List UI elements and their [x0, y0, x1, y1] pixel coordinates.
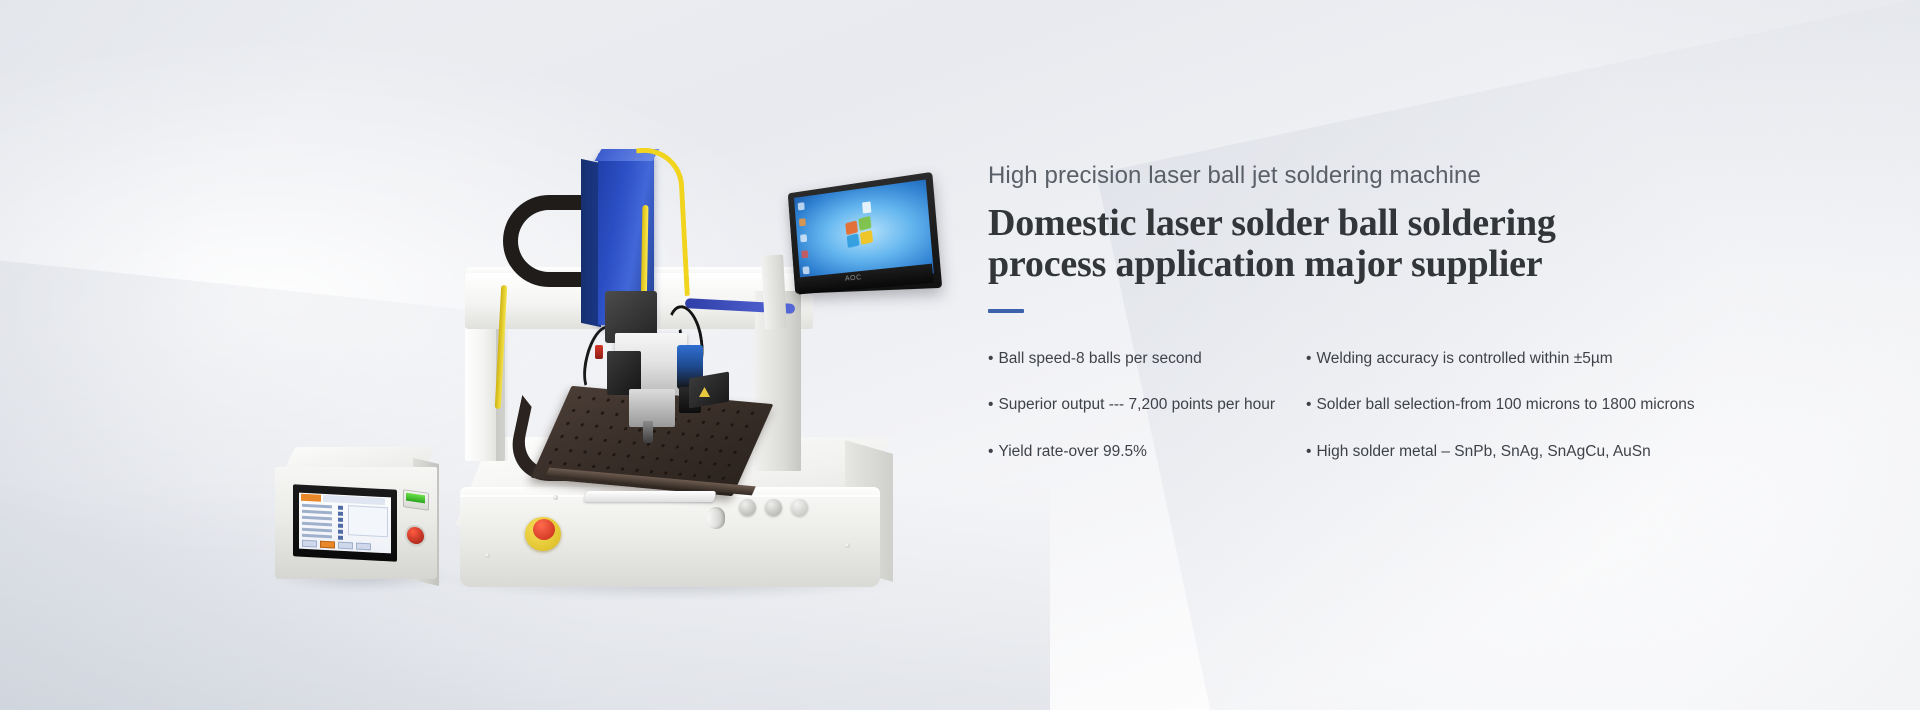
spec-text: Solder ball selection-from 100 microns t… [1316, 396, 1694, 413]
controller-ui-menu-rows [302, 504, 336, 542]
windows-logo-icon [845, 215, 875, 250]
accent-divider [988, 309, 1024, 313]
hero-headline-line-2: process application major supplier [988, 244, 1808, 285]
spec-list: •Ball speed-8 balls per second •Welding … [988, 349, 1808, 461]
base-screw-3 [553, 495, 558, 500]
product-photo: AOC [285, 95, 905, 595]
desktop-file-icon [862, 201, 871, 213]
hero-eyebrow: High precision laser ball jet soldering … [988, 160, 1808, 191]
monitor-brand-label: AOC [845, 274, 862, 282]
spec-item-solder-metal: •High solder metal – SnPb, SnAg, SnAgCu,… [1306, 442, 1808, 462]
panel-button-3 [791, 499, 808, 516]
bullet-icon: • [988, 396, 993, 413]
panel-button-1 [739, 499, 756, 516]
controller-touchscreen [299, 493, 391, 554]
hero-banner: AOC [0, 0, 1920, 710]
controller-ui-buttons [302, 540, 371, 551]
spec-text: Yield rate-over 99.5% [998, 443, 1146, 460]
base-screw-1 [485, 553, 490, 558]
hero-headline: Domestic laser solder ball soldering pro… [988, 203, 1808, 285]
base-screw-2 [845, 543, 850, 548]
head-red-indicator [595, 345, 603, 359]
bullet-icon: • [988, 350, 993, 367]
desktop-taskbar-icons [798, 202, 812, 273]
monitor-arm [761, 254, 787, 329]
controller-ui-status-dots [338, 506, 346, 542]
bullet-icon: • [1306, 443, 1311, 460]
spec-text: Superior output --- 7,200 points per hou… [998, 396, 1275, 413]
controller-ui-content-panel [348, 505, 388, 537]
hero-text-block: High precision laser ball jet soldering … [988, 160, 1808, 462]
spec-text: Ball speed-8 balls per second [998, 350, 1201, 367]
bullet-icon: • [988, 443, 993, 460]
spec-item-output: •Superior output --- 7,200 points per ho… [988, 395, 1306, 415]
machine-base-front [460, 495, 880, 587]
hero-headline-line-1: Domestic laser solder ball soldering [988, 203, 1808, 244]
spec-text: Welding accuracy is controlled within ±5… [1316, 350, 1612, 367]
emergency-stop-button [533, 519, 555, 540]
spec-item-welding-accuracy: •Welding accuracy is controlled within ±… [1306, 349, 1808, 369]
work-table-rail [584, 491, 717, 502]
spec-item-ball-speed: •Ball speed-8 balls per second [988, 349, 1306, 369]
solder-ball-nozzle [643, 421, 653, 443]
controller-ui-title-bar [323, 495, 385, 505]
spec-item-yield-rate: •Yield rate-over 99.5% [988, 442, 1306, 462]
controller-ui-title-tab [301, 494, 321, 502]
bullet-icon: • [1306, 396, 1311, 413]
selector-knob [707, 507, 725, 529]
panel-button-2 [765, 499, 782, 516]
bullet-icon: • [1306, 350, 1311, 367]
spec-text: High solder metal – SnPb, SnAg, SnAgCu, … [1316, 443, 1650, 460]
spec-item-solder-ball-selection: •Solder ball selection-from 100 microns … [1306, 395, 1808, 415]
